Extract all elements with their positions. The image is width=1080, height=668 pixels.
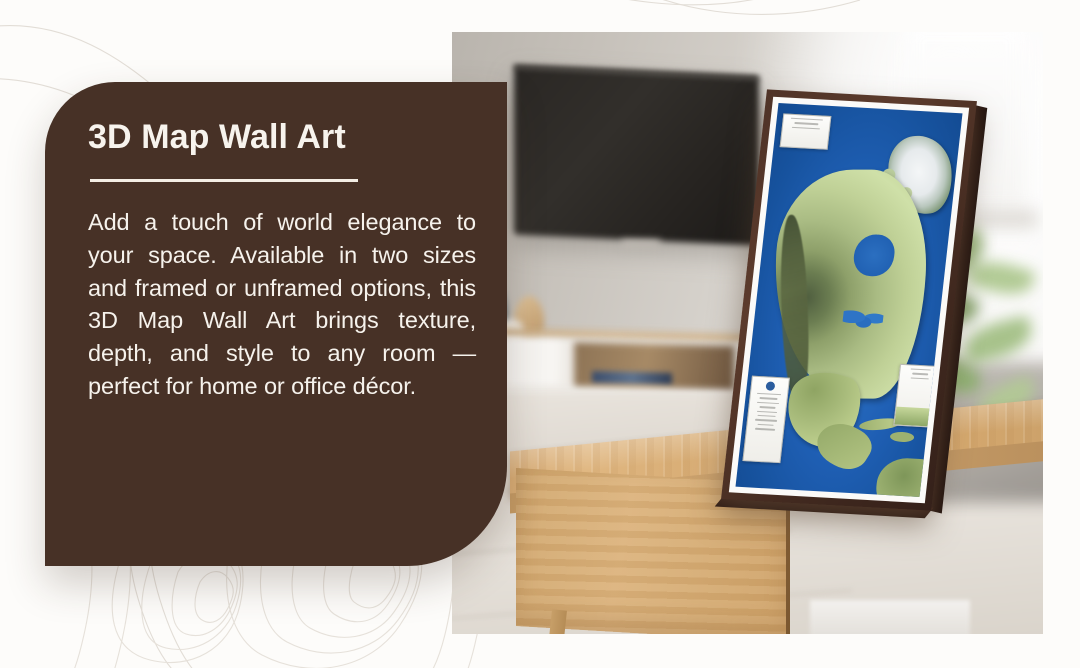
card-content: 3D Map Wall Art Add a touch of world ele… [88, 118, 487, 403]
television [514, 66, 759, 245]
title-divider [90, 179, 358, 182]
frame-mat [729, 97, 969, 503]
framed-3d-map-poster [721, 89, 977, 510]
promo-banner: 3D Map Wall Art Add a touch of world ele… [0, 0, 1080, 668]
description-text: Add a touch of world ele­gance to your s… [88, 206, 476, 403]
text-card: 3D Map Wall Art Add a touch of world ele… [45, 82, 507, 566]
television-mount [622, 240, 660, 249]
great-lakes [842, 307, 885, 333]
north-america-relief-map [735, 103, 962, 497]
console-shelf-items [592, 371, 672, 385]
product-lifestyle-photo [452, 32, 1043, 634]
map-seal-icon [765, 381, 775, 390]
white-object-under-table [810, 600, 970, 634]
hispaniola-landmass [890, 431, 915, 442]
inset-detail-right [893, 364, 942, 428]
page-title: 3D Map Wall Art [88, 118, 487, 157]
inset-relief-strip [894, 407, 936, 427]
inset-legend-bottom-left [742, 376, 790, 464]
inset-top-left [780, 113, 832, 149]
